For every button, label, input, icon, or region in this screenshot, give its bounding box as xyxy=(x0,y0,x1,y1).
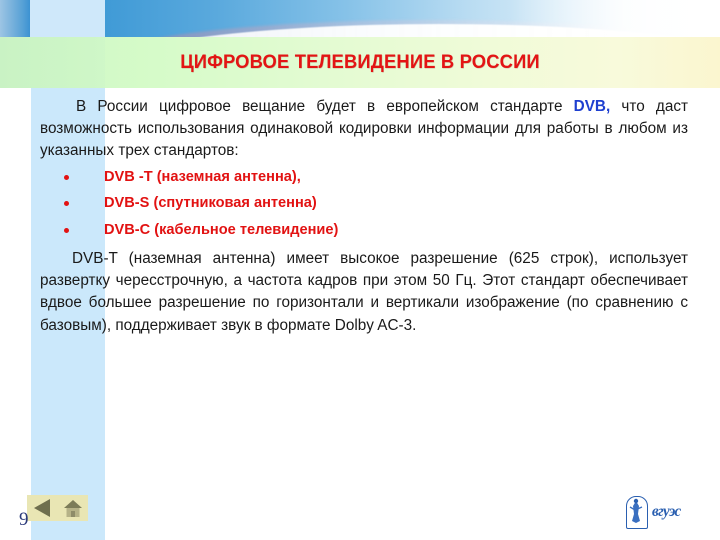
bullet-dot-icon xyxy=(64,175,69,180)
bullet-dot-icon xyxy=(64,228,69,233)
list-item-label: DVB -Т (наземная антенна), xyxy=(104,169,301,185)
list-item: DVB-C (кабельное телевидение) xyxy=(40,222,688,240)
header-left-gradient-stripe xyxy=(0,0,30,40)
back-arrow-icon xyxy=(34,499,50,517)
list-item: DVB-S (спутниковая антенна) xyxy=(40,195,688,213)
slide-content: В России цифровое вещание будет в европе… xyxy=(40,96,688,341)
organization-logo: вгуэс xyxy=(626,496,704,529)
back-button[interactable] xyxy=(27,495,57,521)
standards-list: DVB -Т (наземная антенна), DVB-S (спутни… xyxy=(40,169,688,240)
logo-emblem-icon xyxy=(626,496,648,529)
intro-lead-text: В России цифровое вещание будет в европе… xyxy=(76,98,574,115)
navigation-toolbar[interactable] xyxy=(27,495,88,521)
list-item-label: DVB-C (кабельное телевидение) xyxy=(104,222,338,238)
header-right-fade xyxy=(510,0,720,40)
page-title: ЦИФРОВОЕ ТЕЛЕВИДЕНИЕ В РОССИИ xyxy=(22,37,699,88)
header-left-light-stripe xyxy=(30,0,105,40)
logo-figure-icon xyxy=(627,497,645,526)
bullet-dot-icon xyxy=(64,201,69,206)
intro-paragraph: В России цифровое вещание будет в европе… xyxy=(40,96,688,163)
page-number: 9 xyxy=(19,509,29,531)
home-button[interactable] xyxy=(57,495,88,521)
slide-canvas: ЦИФРОВОЕ ТЕЛЕВИДЕНИЕ В РОССИИ В России ц… xyxy=(0,0,720,540)
dvb-keyword: DVB, xyxy=(574,98,611,115)
logo-wordmark: вгуэс xyxy=(652,504,681,522)
detail-paragraph: DVB-T (наземная антенна) имеет высокое р… xyxy=(40,248,688,337)
header-decoration-band xyxy=(0,0,720,40)
home-icon xyxy=(63,499,83,518)
list-item-label: DVB-S (спутниковая антенна) xyxy=(104,195,317,211)
list-item: DVB -Т (наземная антенна), xyxy=(40,169,688,187)
